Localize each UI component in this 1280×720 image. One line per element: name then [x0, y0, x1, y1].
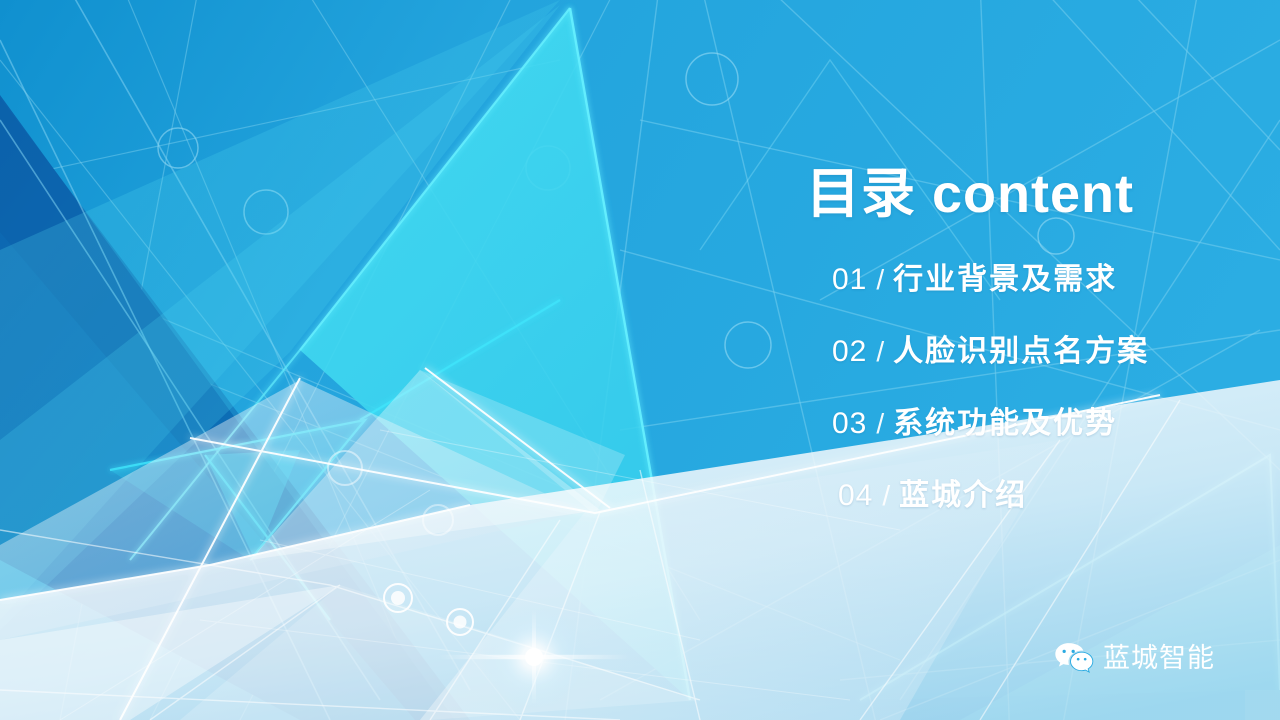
toc-number-04: 04	[838, 479, 873, 513]
toc-item-02[interactable]: 02 / 人脸识别点名方案	[832, 326, 1246, 370]
toc-separator-01: /	[876, 264, 884, 296]
toc-separator-03: /	[876, 408, 884, 440]
toc-label-02: 人脸识别点名方案	[893, 326, 1149, 370]
wechat-icon	[1054, 641, 1094, 675]
toc-separator-02: /	[876, 336, 884, 368]
toc-item-03[interactable]: 03 / 系统功能及优势	[832, 398, 1246, 442]
toc-label-01: 行业背景及需求	[893, 254, 1117, 298]
toc-list: 01 / 行业背景及需求 02 / 人脸识别点名方案 03 / 系统功能及优势 …	[806, 254, 1246, 514]
page-title-cn: 目录	[806, 164, 916, 224]
toc-label-03: 系统功能及优势	[893, 398, 1117, 442]
corner-glints	[1245, 690, 1280, 720]
presentation-slide: 目录 content 01 / 行业背景及需求 02 / 人脸识别点名方案 03…	[0, 0, 1280, 720]
toc-label-04: 蓝城介绍	[899, 470, 1027, 514]
page-title-en: content	[932, 164, 1134, 224]
toc-number-02: 02	[832, 335, 867, 369]
page-title: 目录 content	[806, 165, 1246, 224]
wechat-watermark: 蓝城智能	[1054, 641, 1215, 675]
toc-item-04[interactable]: 04 / 蓝城介绍	[838, 470, 1246, 514]
watermark-label: 蓝城智能	[1103, 645, 1215, 672]
toc-item-01[interactable]: 01 / 行业背景及需求	[832, 254, 1246, 298]
toc-number-01: 01	[832, 263, 867, 297]
toc-number-03: 03	[832, 407, 867, 441]
toc-separator-04: /	[882, 480, 890, 512]
table-of-contents-block: 目录 content 01 / 行业背景及需求 02 / 人脸识别点名方案 03…	[806, 165, 1246, 514]
